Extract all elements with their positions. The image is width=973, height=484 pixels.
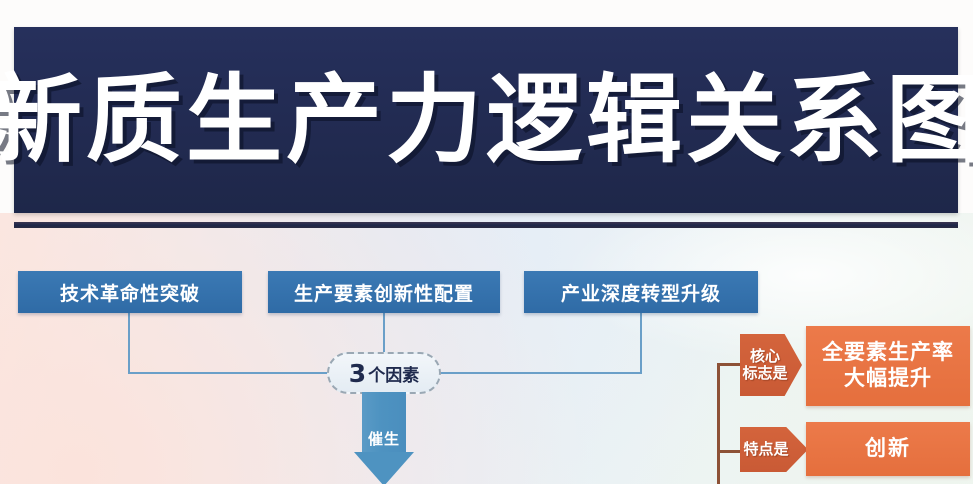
connector-horizontal-right [424,372,642,374]
outcome-box-label: 全要素生产率 大幅提升 [822,340,954,391]
tag-line: 特点是 [743,441,788,458]
bracket-vertical [717,363,720,484]
factor-box-production-elements[interactable]: 生产要素创新性配置 [268,271,500,313]
down-arrow-label: 催生 [354,428,414,449]
outcome-tag-label: 特点是 [743,441,804,458]
outcome-box-innovation[interactable]: 创新 [806,422,970,476]
title-divider [14,222,958,228]
tag-line: 核心 [742,348,787,365]
connector-vertical-box3 [640,312,642,374]
infographic-canvas: 新质生产力逻辑关系图 技术革命性突破 生产要素创新性配置 产业深度转型升级 3 … [0,0,973,484]
three-factors-pill[interactable]: 3 个因素 [327,352,441,394]
down-arrow-head [354,452,414,484]
factor-box-label: 技术革命性突破 [60,279,200,306]
pill-label: 个因素 [368,361,419,386]
tag-line: 标志是 [742,365,787,382]
connector-vertical-box1 [128,312,130,374]
factor-box-technology[interactable]: 技术革命性突破 [18,271,242,313]
outcome-line: 大幅提升 [822,366,954,392]
page-title: 新质生产力逻辑关系图 [0,72,973,168]
outcome-line: 创新 [865,436,911,462]
pill-number: 3 [349,361,366,386]
factor-box-industry-upgrade[interactable]: 产业深度转型升级 [524,271,758,313]
factor-box-label: 产业深度转型升级 [561,279,721,306]
outcome-line: 全要素生产率 [822,340,954,366]
connector-horizontal-left [128,372,344,374]
outcome-tag-label: 核心 标志是 [742,348,799,382]
connector-vertical-box2 [383,312,385,352]
down-arrow-icon: 催生 [354,392,414,484]
factor-box-label: 生产要素创新性配置 [294,279,474,306]
outcome-box-label: 创新 [865,436,911,462]
outcome-box-productivity[interactable]: 全要素生产率 大幅提升 [806,326,970,406]
title-banner: 新质生产力逻辑关系图 [14,27,958,213]
